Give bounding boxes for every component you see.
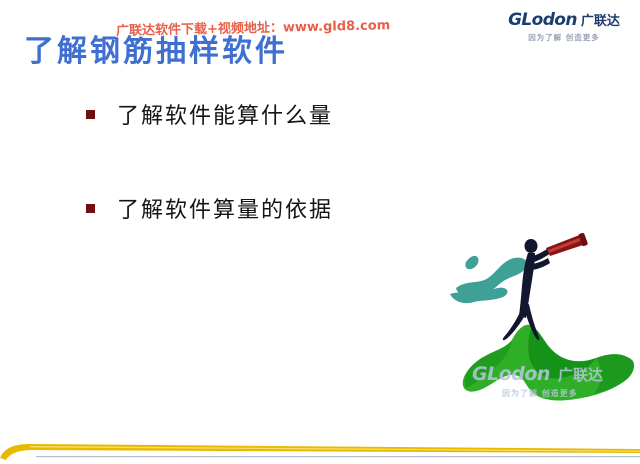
square-bullet-icon [86,110,95,119]
telescope-icon [546,232,588,256]
list-item-label: 了解软件算量的依据 [117,192,333,224]
list-item: 了解软件能算什么量 [86,98,506,130]
thin-underline [36,456,640,457]
brand-name-chinese: 广联达 [581,15,620,28]
svg-text:GLodon: GLodon [472,363,550,385]
list-item: 了解软件算量的依据 [86,192,506,224]
watermark-text: 广联达软件下载+视频地址：www.gld8.com [116,14,391,39]
brand-wordmark: GLodon [508,12,577,29]
list-item-label: 了解软件能算什么量 [117,98,333,130]
square-bullet-icon [86,204,95,213]
brand-tagline: 因为了解 创造更多 [498,32,630,43]
gold-swoosh-shape [0,444,640,460]
svg-text:广联达: 广联达 [558,366,603,384]
brand-logo-row: GLodon 广联达 [498,12,630,29]
slide: GLodon 广联达 因为了解 创造更多 了解钢筋抽样软件 广联达软件下载+视频… [0,0,640,464]
bottom-decoration [0,436,640,464]
svg-text:因为了解 创造更多: 因为了解 创造更多 [502,388,578,398]
illustration-person-with-telescope-on-mountain: GLodon 广联达 因为了解 创造更多 [440,228,640,440]
brand-logo: GLodon 广联达 因为了解 创造更多 [498,12,630,46]
cloud-wave-icon [450,256,527,303]
